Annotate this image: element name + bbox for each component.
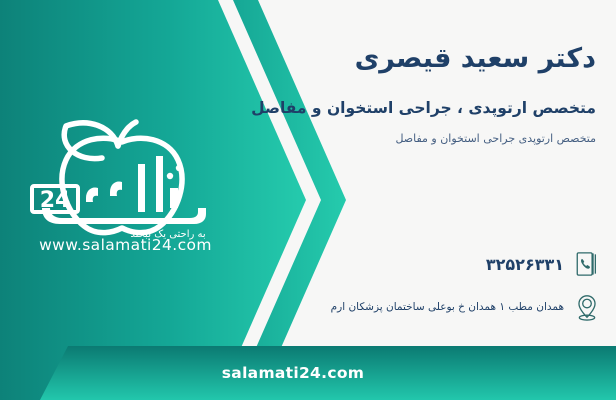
contact-address-row: همدان مطب ۱ همدان خ بوعلی ساختمان پزشکان… [331,291,602,323]
phone-number: ۳۲۵۲۶۳۳۱ [486,255,564,274]
doctor-specialty: متخصص ارتوپدی ، جراحی استخوان و مفاصل [176,98,596,118]
business-card: salamati24.com [0,0,616,400]
svg-text:24: 24 [40,188,71,213]
apple-icon: 24 به راحتی یک لبخند [18,112,233,240]
footer-website: salamati24.com [0,346,616,400]
brand-logo: 24 به راحتی یک لبخند www.salamati24.com [18,112,233,272]
address-text: همدان مطب ۱ همدان خ بوعلی ساختمان پزشکان… [331,301,564,313]
doctor-name: دکتر سعید قیصری [196,42,596,76]
location-pin-icon [572,291,602,323]
phone-book-icon [572,248,602,280]
contact-phone-row: ۳۲۵۲۶۳۳۱ [486,248,602,280]
brand-website: www.salamati24.com [18,236,233,254]
doctor-specialty-secondary: متخصص ارتوپدی جراحی استخوان و مفاصل [176,132,596,146]
